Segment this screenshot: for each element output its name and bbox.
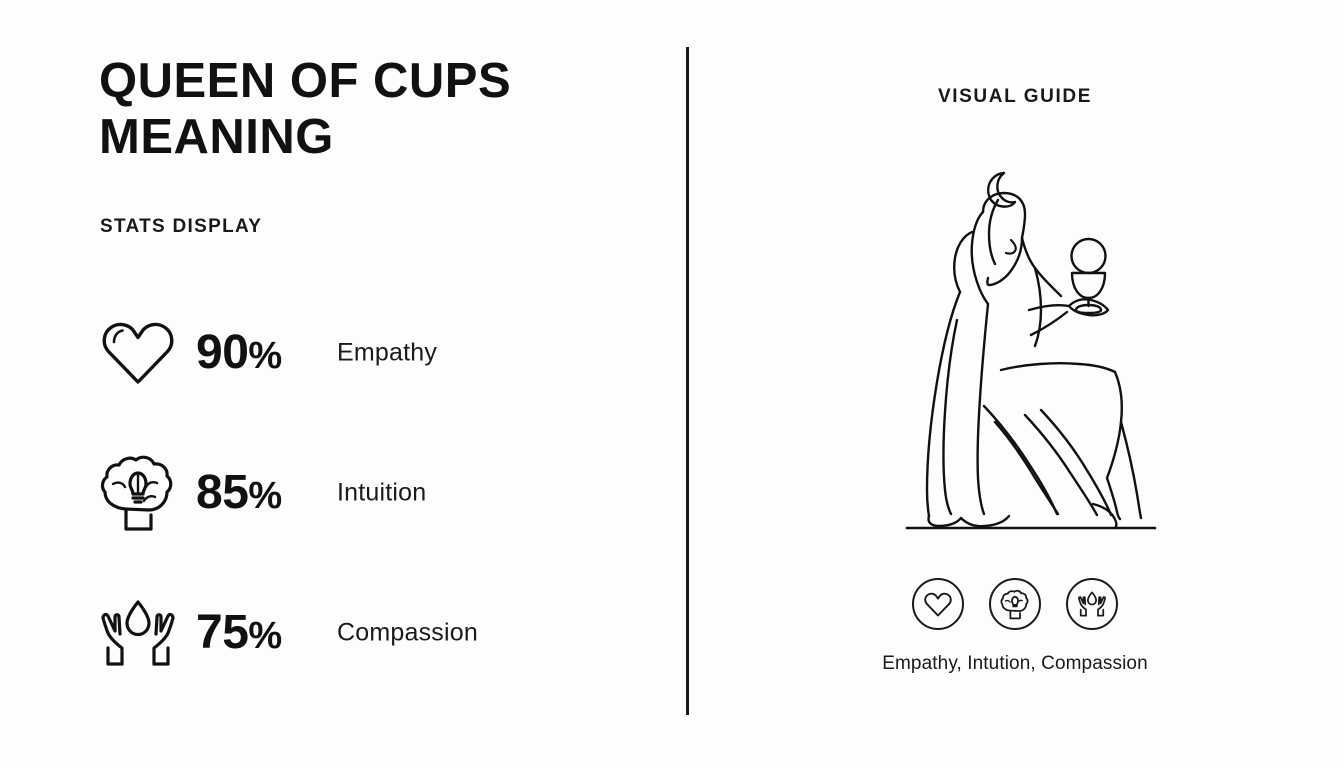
brain-head-icon: [97, 452, 179, 534]
heart-icon: [924, 592, 952, 617]
stat-number-empathy: 90: [196, 326, 248, 379]
stats-list: 90% Empathy: [0, 283, 686, 703]
badge-intuition[interactable]: [989, 578, 1041, 630]
stat-number-intuition: 85: [196, 466, 248, 519]
stat-row-empathy: 90% Empathy: [0, 283, 686, 423]
heart-icon: [97, 312, 179, 394]
stats-section-heading: STATS DISPLAY: [100, 216, 262, 238]
badge-compassion[interactable]: [1066, 578, 1118, 630]
stat-label-empathy: Empathy: [337, 341, 437, 366]
page-title: QUEEN OF CUPS MEANING: [99, 53, 659, 165]
left-panel: QUEEN OF CUPS MEANING STATS DISPLAY 90% …: [0, 0, 686, 768]
stat-unit-empathy: %: [248, 335, 281, 377]
badge-empathy[interactable]: [912, 578, 964, 630]
right-panel: VISUAL GUIDE: [686, 0, 1344, 768]
stat-row-intuition: 85% Intuition: [0, 423, 686, 563]
stat-row-compassion: 75% Compassion: [0, 563, 686, 703]
badge-row: [686, 578, 1344, 630]
queen-of-cups-illustration: [865, 160, 1165, 540]
badge-caption: Empathy, Intution, Compassion: [686, 653, 1344, 675]
stat-unit-intuition: %: [248, 475, 281, 517]
stat-label-intuition: Intuition: [337, 481, 426, 506]
stat-number-compassion: 75: [196, 606, 248, 659]
stat-value-compassion: 75%: [196, 609, 282, 657]
stat-label-compassion: Compassion: [337, 621, 478, 646]
hands-droplet-icon: [97, 592, 179, 674]
hands-droplet-icon: [1077, 590, 1107, 618]
stat-value-intuition: 85%: [196, 469, 282, 517]
slide-root: QUEEN OF CUPS MEANING STATS DISPLAY 90% …: [0, 0, 1344, 768]
stat-value-empathy: 90%: [196, 329, 282, 377]
brain-head-icon: [1000, 589, 1030, 620]
visual-guide-heading: VISUAL GUIDE: [686, 86, 1344, 108]
stat-unit-compassion: %: [248, 615, 281, 657]
